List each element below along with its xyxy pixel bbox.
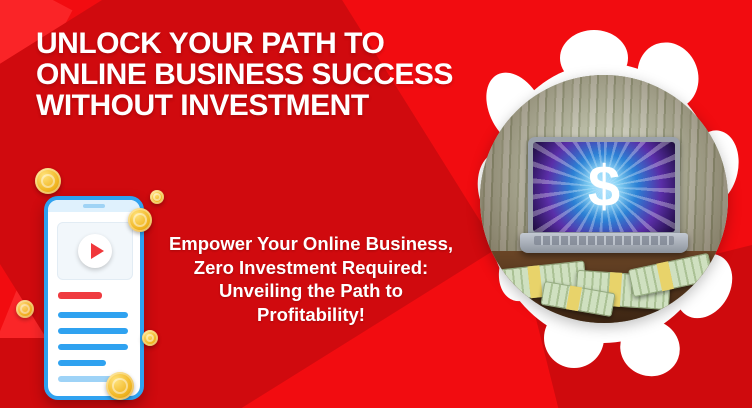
gold-coin: [35, 168, 61, 194]
content-line: [58, 312, 128, 318]
play-triangle-icon: [91, 243, 104, 259]
phone-status-bar: [48, 200, 140, 212]
gold-coin: [128, 208, 152, 232]
content-line-accent: [58, 292, 102, 299]
headline: UNLOCK YOUR PATH TO ONLINE BUSINESS SUCC…: [36, 28, 456, 122]
content-line: [58, 344, 128, 350]
content-line: [58, 328, 128, 334]
dollar-sign-icon: $: [533, 142, 675, 232]
cash-band: [527, 265, 542, 298]
gold-coin: [142, 330, 158, 346]
blob-photo-group: $: [454, 18, 744, 393]
laptop-lid: $: [528, 137, 680, 237]
hero-photo: $: [480, 75, 728, 323]
video-thumbnail: [57, 222, 133, 280]
subheadline: Empower Your Online Business, Zero Inves…: [168, 232, 454, 327]
laptop-graphic: $: [520, 137, 688, 263]
laptop-base: [520, 233, 688, 253]
play-button-icon[interactable]: [78, 234, 112, 268]
gold-coin: [150, 190, 164, 204]
gold-coin: [106, 372, 134, 400]
laptop-screen: $: [533, 142, 675, 232]
cash-band: [566, 285, 582, 311]
promo-banner: $ UNLOCK YOUR PATH TO ONLINE BUSINESS SU…: [0, 0, 752, 408]
content-line: [58, 360, 106, 366]
phone-speaker-notch: [83, 204, 105, 208]
gold-coin: [16, 300, 34, 318]
laptop-keyboard: [534, 236, 674, 245]
cash-band: [656, 261, 674, 291]
